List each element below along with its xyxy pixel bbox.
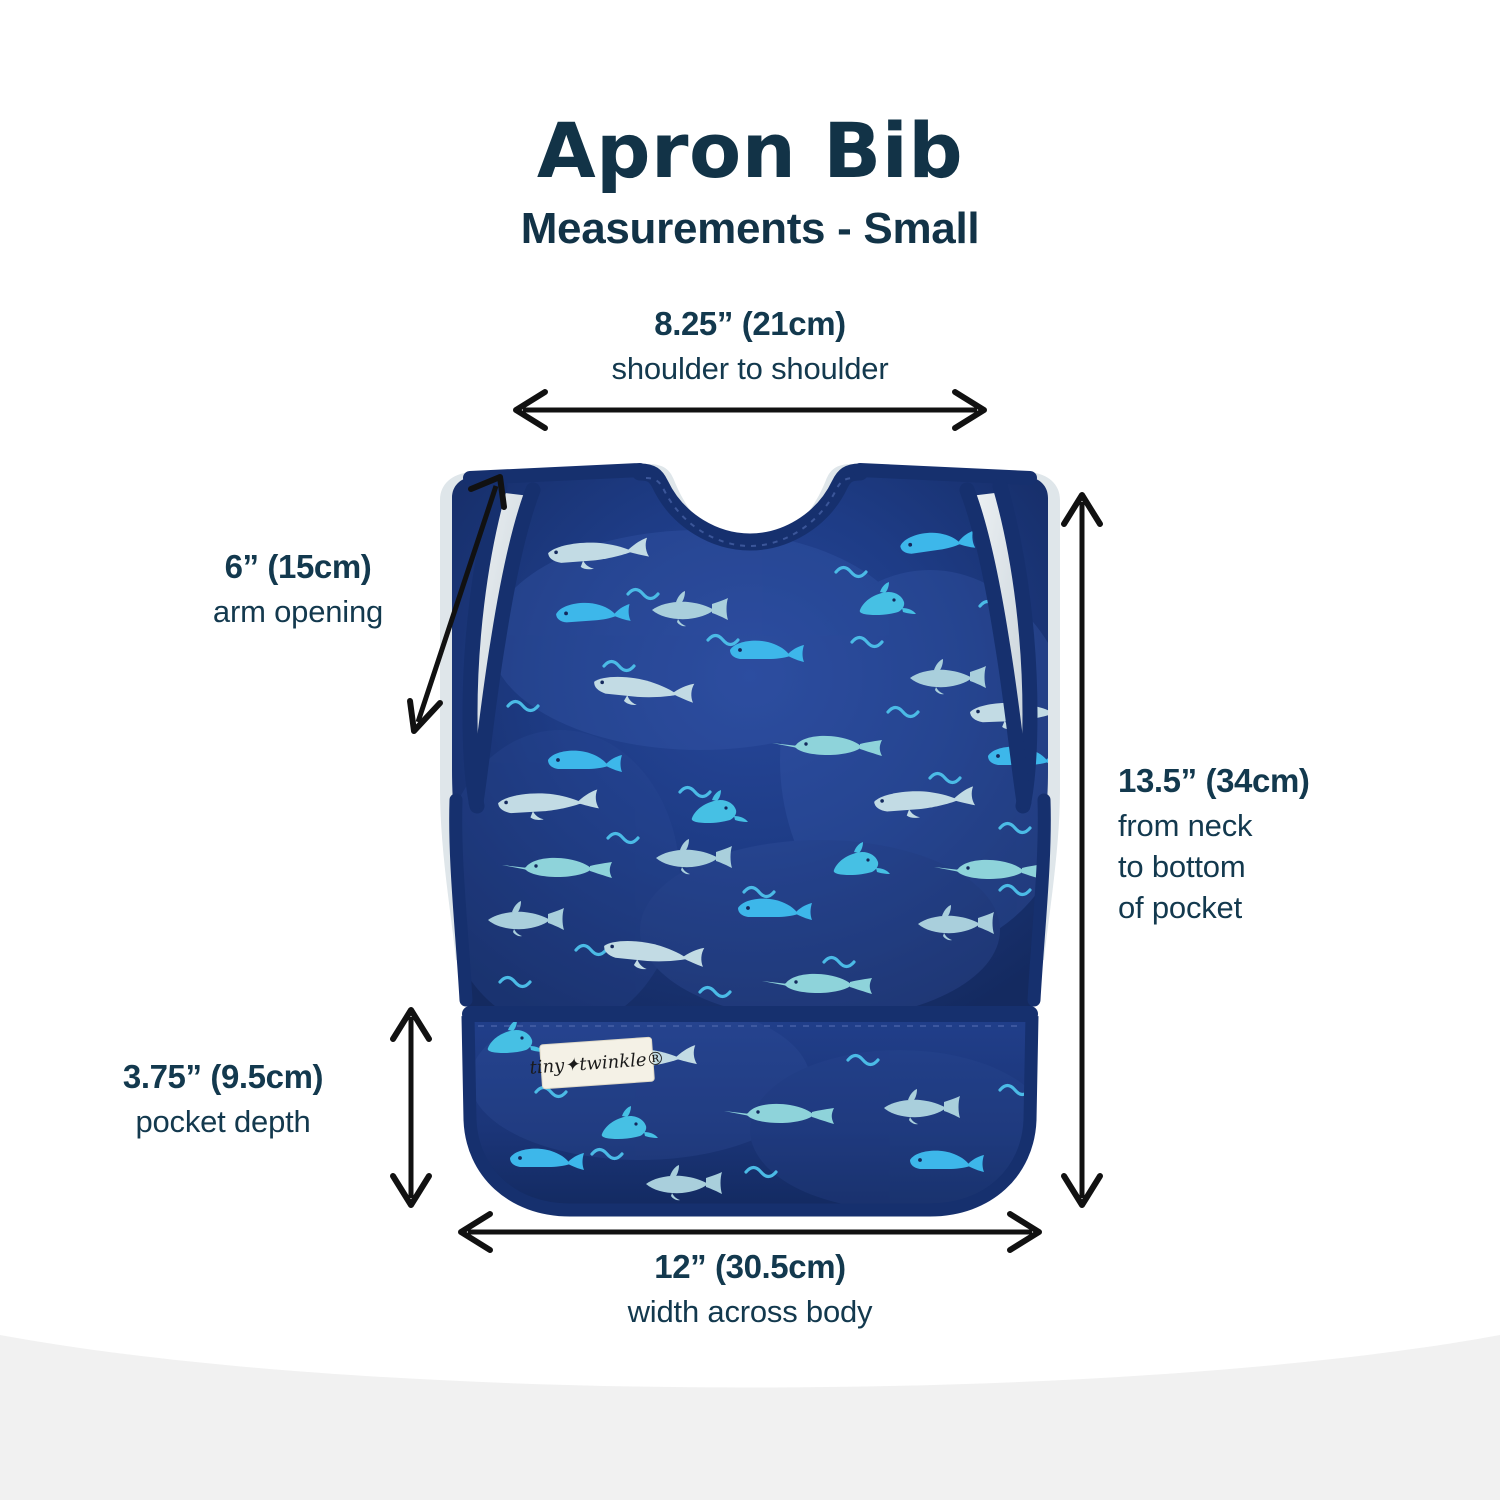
shoulder-binding-right [860, 470, 1030, 478]
arrow-width-across-body [461, 1214, 1039, 1250]
bib-pocket [468, 1000, 1050, 1210]
measurement-diagram-page: Apron Bib Measurements - Small 8.25” (21… [0, 0, 1500, 1500]
arrow-neck-to-pocket [1064, 495, 1100, 1205]
arrow-shoulder-to-shoulder [516, 392, 984, 428]
apron-bib-illustration: tiny✦twinkle® [0, 0, 1500, 1500]
arrow-pocket-depth [393, 1010, 429, 1205]
bib-body [440, 470, 1080, 1030]
brand-tag: tiny✦twinkle® [529, 1037, 665, 1089]
